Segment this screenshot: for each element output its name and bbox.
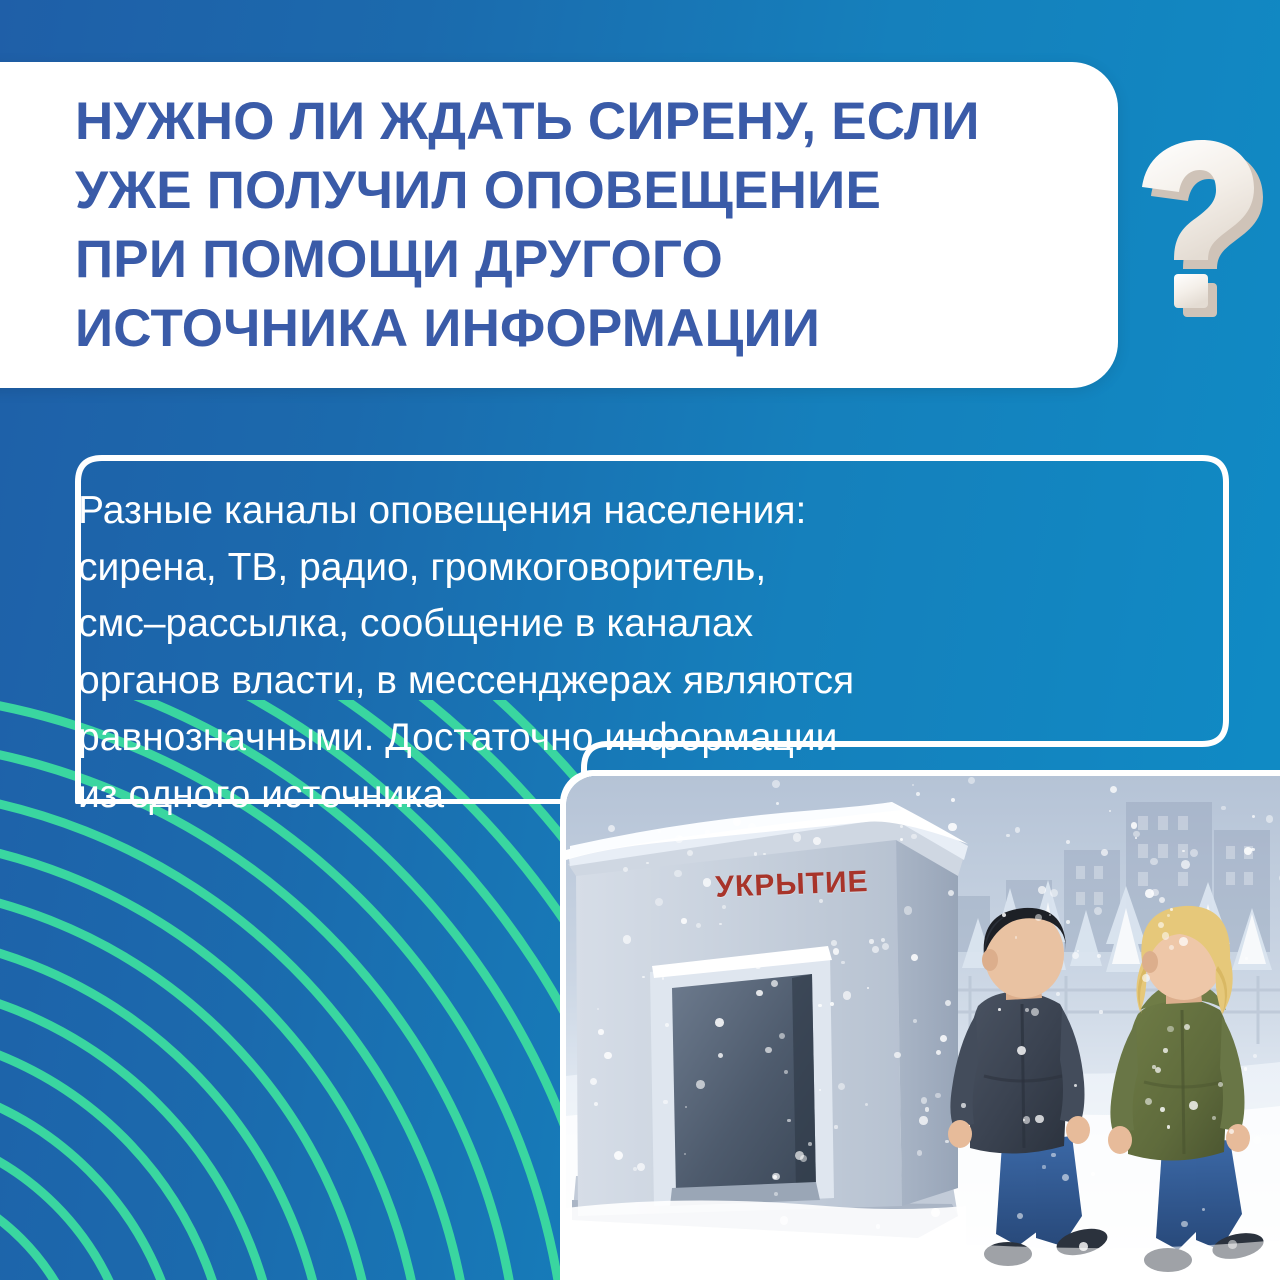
page-title: НУЖНО ЛИ ЖДАТЬ СИРЕНУ, ЕСЛИ УЖЕ ПОЛУЧИЛ …	[75, 88, 1078, 364]
infographic-poster: НУЖНО ЛИ ЖДАТЬ СИРЕНУ, ЕСЛИ УЖЕ ПОЛУЧИЛ …	[0, 0, 1280, 1280]
body-text: Разные каналы оповещения населения: сире…	[78, 483, 1078, 823]
shelter-photo: УКРЫТИЕ	[566, 776, 1280, 1280]
question-mark-3d-icon	[1124, 132, 1280, 332]
photo-scene-layer	[566, 776, 1280, 1280]
title-card: НУЖНО ЛИ ЖДАТЬ СИРЕНУ, ЕСЛИ УЖЕ ПОЛУЧИЛ …	[0, 62, 1118, 388]
